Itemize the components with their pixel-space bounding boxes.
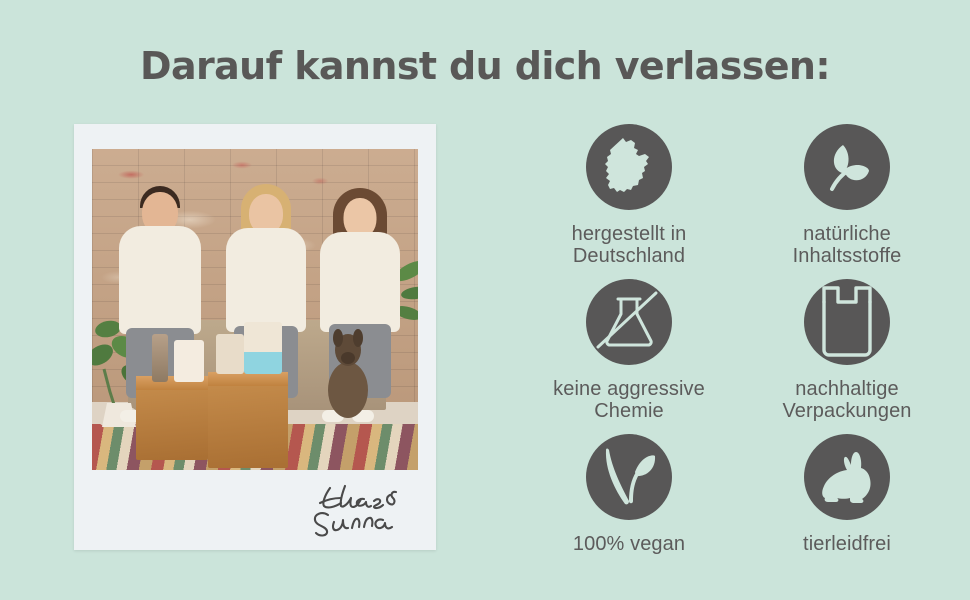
page-title: Darauf kannst du dich verlassen: [0,44,970,88]
feature-label: natürliche Inhaltsstoffe [793,223,902,268]
feature-keine-aggressive-chemie[interactable]: keine aggressive Chemie [520,279,738,434]
feature-grid: hergestellt in Deutschland natürliche In… [520,124,956,589]
rabbit-icon [804,434,890,520]
feature-label: tierleidfrei [803,533,891,555]
feature-label: hergestellt in Deutschland [572,223,687,268]
polaroid-photo-card: Lukas & Sunna [74,124,436,550]
dog [320,324,376,420]
team-photo [92,149,418,470]
signature-lukas-und-sunna: Lukas & Sunna [308,478,418,540]
product-pouch-3 [244,322,282,374]
feature-hergestellt-in-deutschland[interactable]: hergestellt in Deutschland [520,124,738,279]
no-chemistry-flask-icon [586,279,672,365]
feature-nachhaltige-verpackungen[interactable]: nachhaltige Verpackungen [738,279,956,434]
vegan-sprout-icon [586,434,672,520]
feature-tierleidfrei[interactable]: tierleidfrei [738,434,956,589]
wood-block-right [208,372,288,468]
feature-100-prozent-vegan[interactable]: 100% vegan [520,434,738,589]
leaf-plant-icon [804,124,890,210]
product-pouch-1 [174,340,204,382]
shopping-bag-icon [804,279,890,365]
feature-label: nachhaltige Verpackungen [782,378,911,423]
product-bottle [152,334,168,382]
wood-block-left [136,376,208,460]
feature-label: keine aggressive Chemie [553,378,705,423]
germany-map-icon [586,124,672,210]
product-pouch-2 [216,334,244,374]
feature-natuerliche-inhaltsstoffe[interactable]: natürliche Inhaltsstoffe [738,124,956,279]
feature-label: 100% vegan [573,533,685,555]
